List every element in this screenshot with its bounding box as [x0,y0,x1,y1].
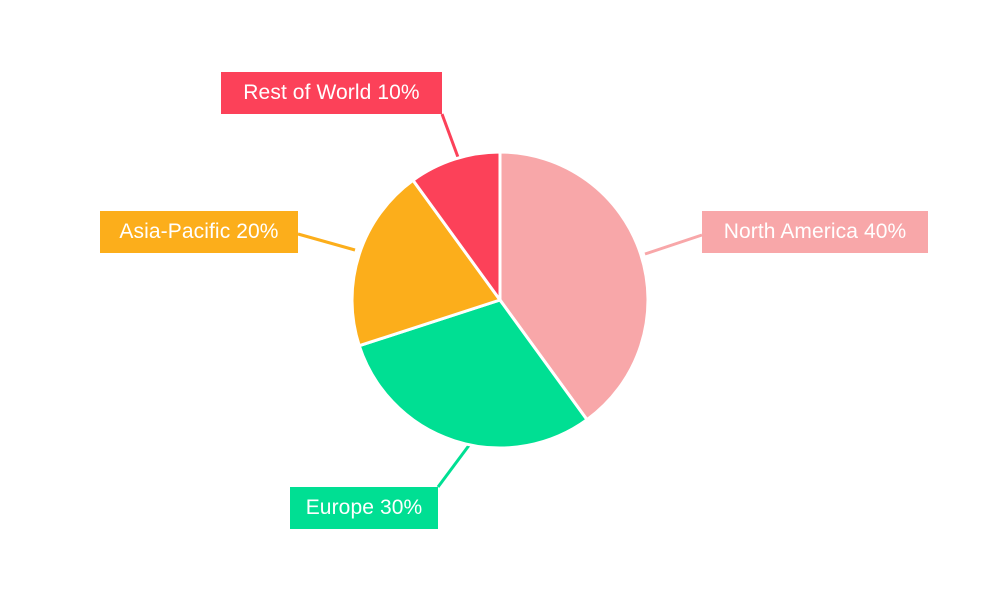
leader-line-asia-pacific [298,234,355,250]
pie-chart-canvas [0,0,1000,600]
slice-label-text: Asia-Pacific 20% [119,221,278,242]
slice-label-asia-pacific[interactable]: Asia-Pacific 20% [100,211,298,253]
slice-label-north-america[interactable]: North America 40% [702,211,928,253]
leader-line-north-america [645,235,702,254]
slice-label-text: North America 40% [724,221,907,242]
pie-slices-group [352,152,648,448]
slice-label-text: Europe 30% [306,497,423,518]
slice-label-rest-of-world[interactable]: Rest of World 10% [221,72,442,114]
leader-line-europe [438,444,470,487]
slice-label-europe[interactable]: Europe 30% [290,487,438,529]
pie-chart-figure: North America 40%Europe 30%Asia-Pacific … [0,0,1000,600]
slice-label-text: Rest of World 10% [243,82,419,103]
